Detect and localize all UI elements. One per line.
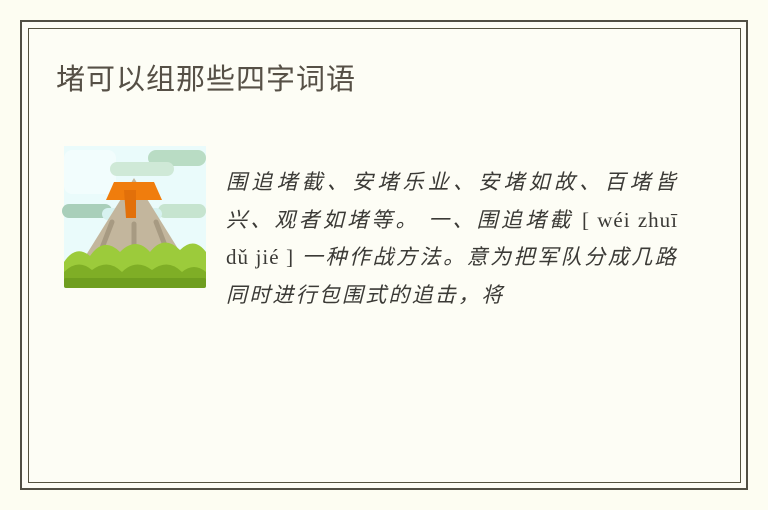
- page-title: 堵可以组那些四字词语: [56, 60, 696, 100]
- answer-body: 围追堵截、安堵乐业、安堵如故、百堵皆兴、观者如堵等。 一、围追堵截 [ wéi …: [226, 164, 678, 400]
- answer-card: 堵可以组那些四字词语: [0, 0, 768, 510]
- volcano-icon: [62, 146, 208, 292]
- answer-text-part-2: 一种作战方法。意为把军队分成几路同时进行包围式的追击，将: [226, 245, 678, 307]
